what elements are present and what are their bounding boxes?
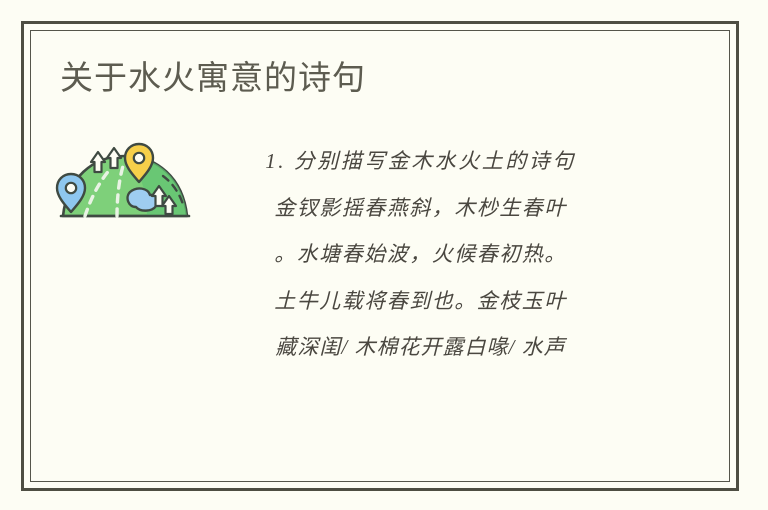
poem-line: 金钗影摇春燕斜，木杪生春叶 <box>208 185 633 232</box>
poem-line: 土牛儿载将春到也。金枝玉叶 <box>208 278 633 325</box>
poem-line: 藏深闺/ 木棉花开露白喙/ 水声 <box>208 324 633 371</box>
poem-line: 1. 分别描写金木水火土的诗句 <box>208 138 633 185</box>
poem-text-block: 1. 分别描写金木水火土的诗句 金钗影摇春燕斜，木杪生春叶 。水塘春始波，火候春… <box>208 138 633 371</box>
card-content: 关于水火寓意的诗句 <box>30 30 730 482</box>
page-title: 关于水火寓意的诗句 <box>60 58 366 98</box>
map-hill-illustration <box>55 142 195 222</box>
poem-line: 。水塘春始波，火候春初热。 <box>208 231 633 278</box>
page-root: 关于水火寓意的诗句 <box>0 0 768 510</box>
